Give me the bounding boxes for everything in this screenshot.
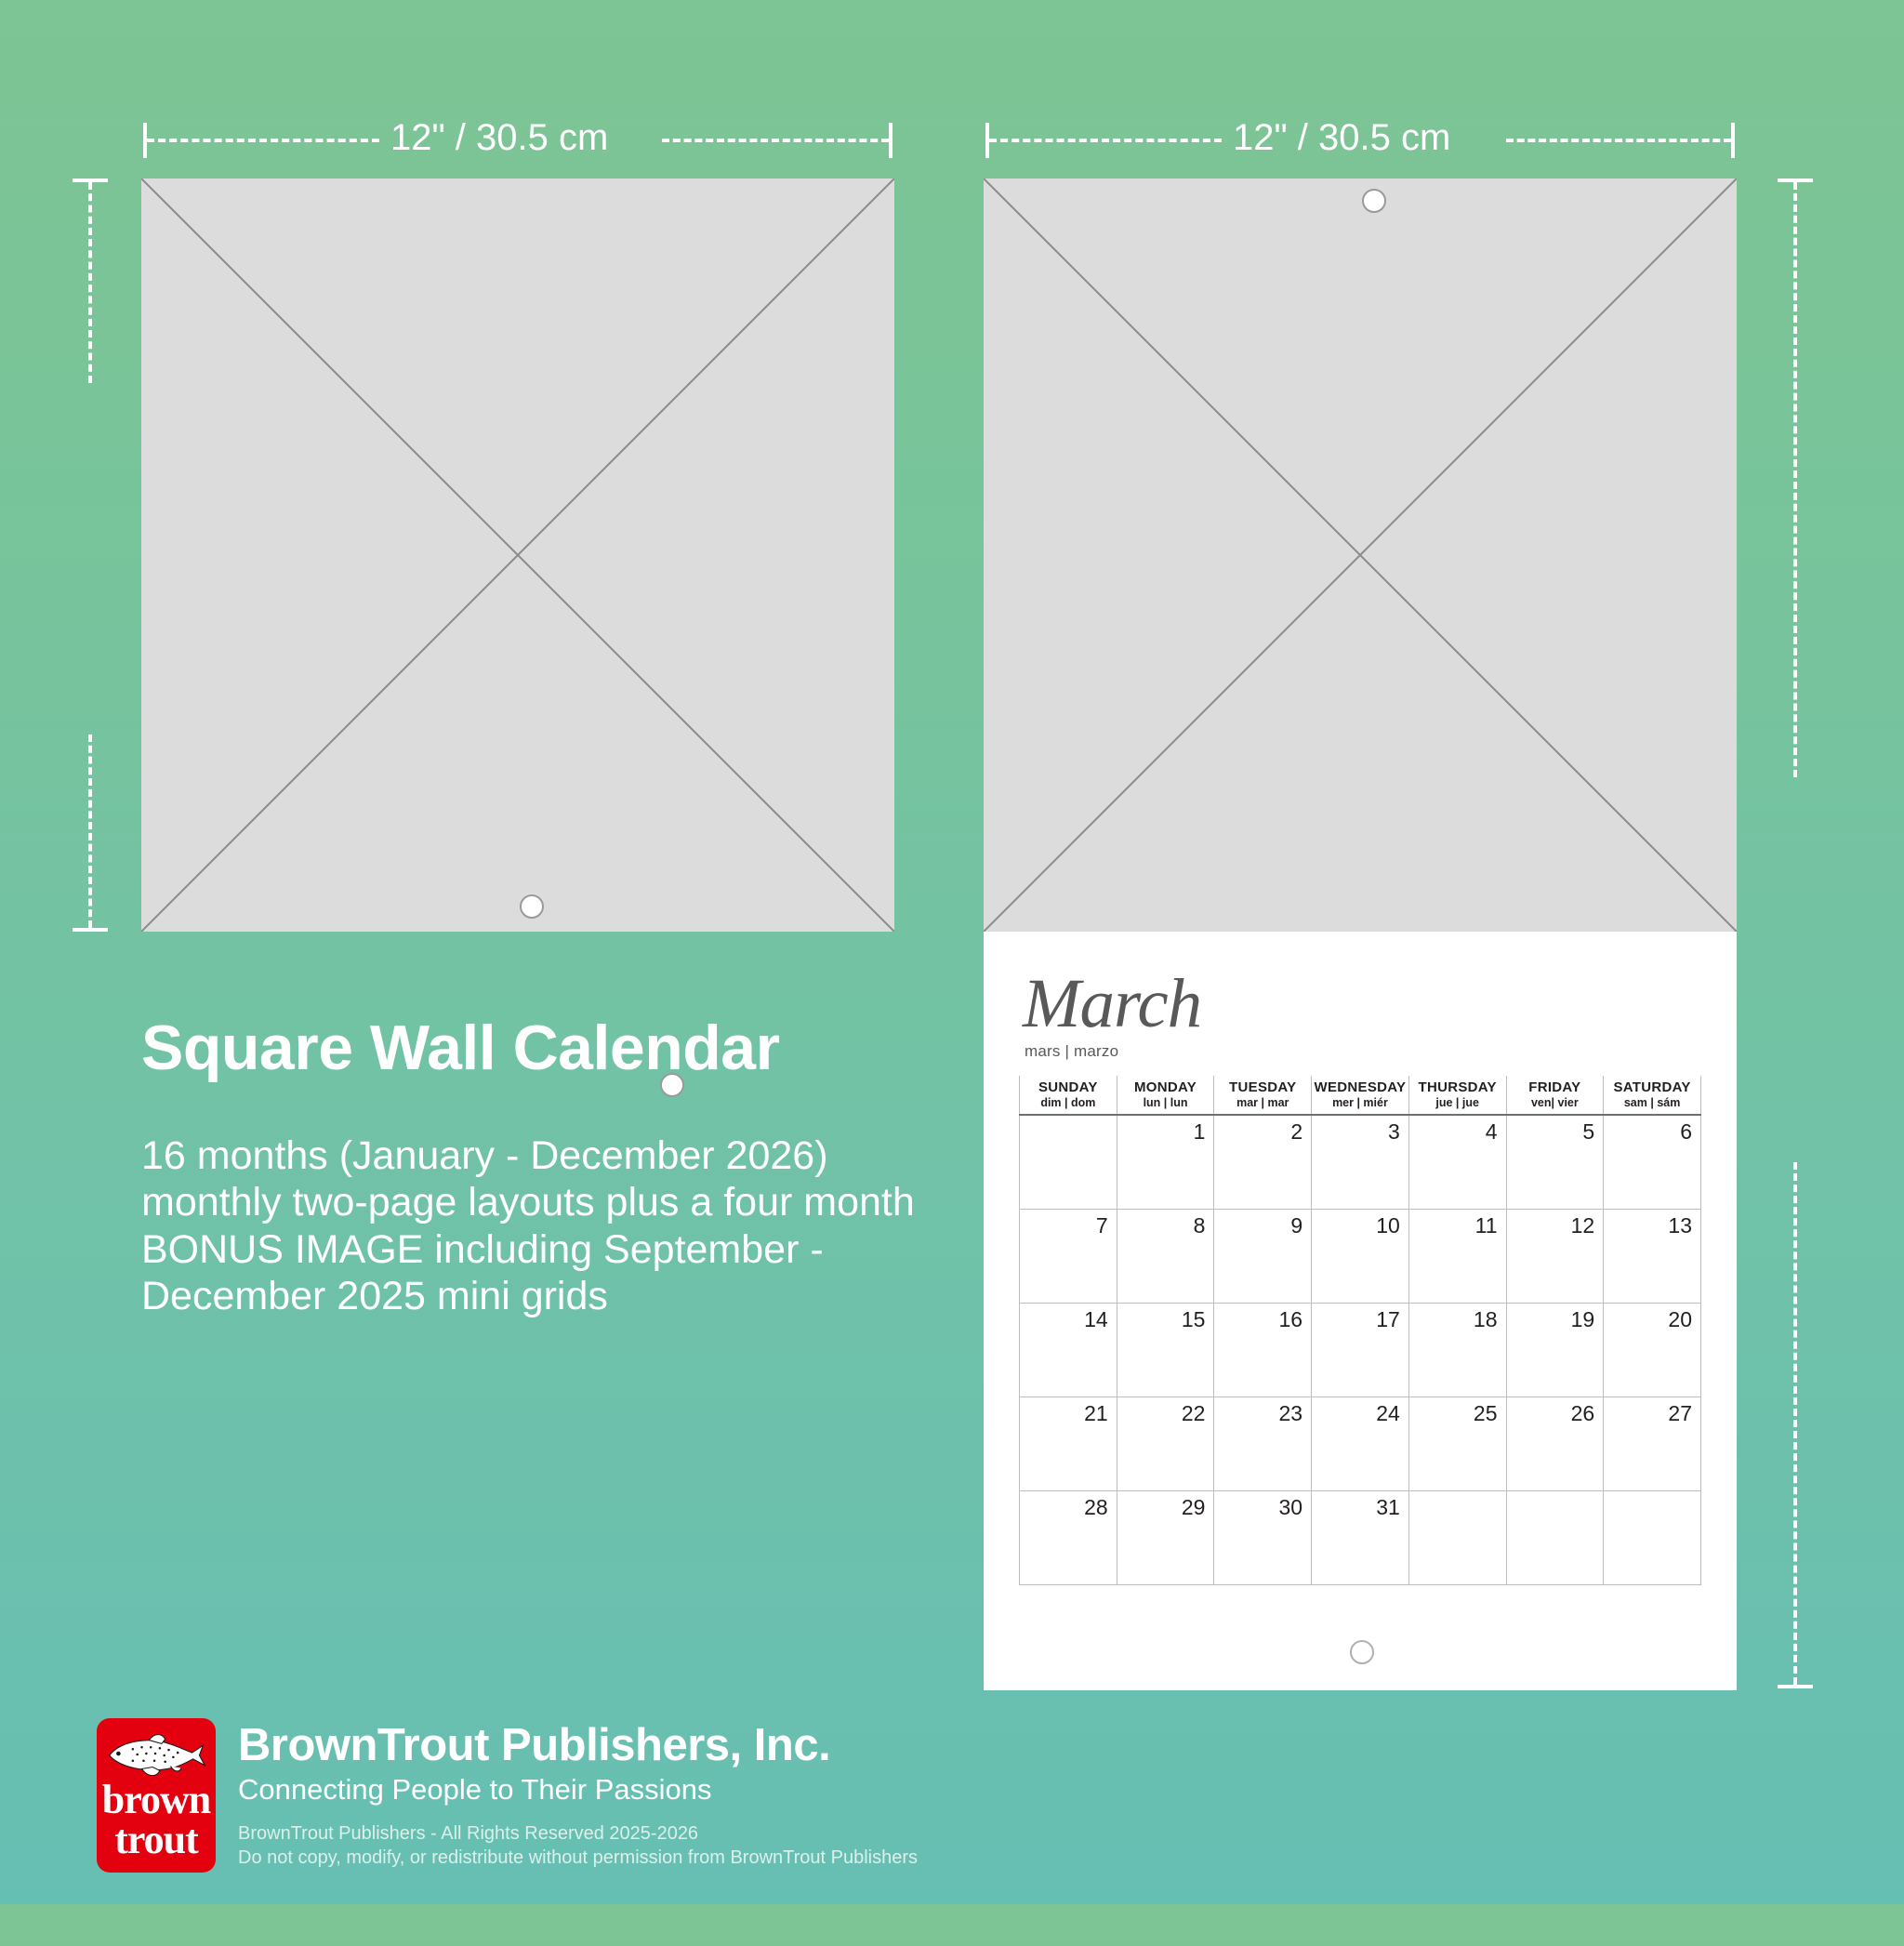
calendar-day-cell[interactable]: 17 [1312, 1303, 1409, 1397]
calendar-day-cell[interactable]: 27 [1604, 1397, 1701, 1490]
day-header-translations: jue | jue [1409, 1096, 1506, 1109]
calendar-day-cell[interactable] [1408, 1490, 1506, 1584]
calendar-day-cell[interactable]: 20 [1604, 1303, 1701, 1397]
product-description: 16 months (January - December 2026) mont… [141, 1132, 959, 1319]
calendar-cover-placeholder [141, 179, 894, 932]
calendar-day-cell[interactable] [1020, 1115, 1117, 1209]
calendar-day-cell[interactable]: 13 [1604, 1209, 1701, 1303]
day-header-translations: dim | dom [1020, 1096, 1117, 1109]
calendar-day-cell[interactable]: 19 [1506, 1303, 1604, 1397]
logo-wordmark: brown trout [97, 1780, 216, 1860]
calendar-day-cell[interactable] [1604, 1490, 1701, 1584]
day-header-label: WEDNESDAY [1312, 1079, 1408, 1095]
trout-fish-icon [102, 1726, 210, 1783]
calendar-day-cell[interactable] [1506, 1490, 1604, 1584]
dimension-right-vertical: 24" / 61 cm [0, 42, 1904, 84]
dimension-tick-rv-bottom [1778, 1685, 1813, 1688]
calendar-day-cell[interactable]: 10 [1312, 1209, 1409, 1303]
calendar-week-row: 1 2 3 4 5 6 [1020, 1115, 1701, 1209]
calendar-day-cell[interactable]: 11 [1408, 1209, 1506, 1303]
calendar-day-cell[interactable]: 6 [1604, 1115, 1701, 1209]
calendar-day-cell[interactable]: 18 [1408, 1303, 1506, 1397]
copyright-line-1: BrownTrout Publishers - All Rights Reser… [238, 1821, 918, 1846]
calendar-week-row: 21 22 23 24 25 26 27 [1020, 1397, 1701, 1490]
calendar-day-cell[interactable]: 26 [1506, 1397, 1604, 1490]
day-header-translations: ven| vier [1507, 1096, 1604, 1109]
dimension-left-vertical: 12" / 30.5 cm [0, 0, 1904, 42]
calendar-content: March mars | marzo SUNDAY dim | dom MOND… [1019, 971, 1701, 1585]
calendar-table: SUNDAY dim | dom MONDAY lun | lun TUESDA… [1019, 1076, 1701, 1585]
hole-punch-left-bottom [520, 894, 544, 919]
dimension-dash-left-a [147, 139, 379, 142]
day-header-label: TUESDAY [1214, 1079, 1311, 1095]
calendar-day-cell[interactable]: 30 [1214, 1490, 1312, 1584]
day-header-saturday: SATURDAY sam | sám [1604, 1076, 1701, 1115]
month-title-translations: mars | marzo [1025, 1042, 1701, 1061]
calendar-day-cell[interactable]: 9 [1214, 1209, 1312, 1303]
calendar-day-cell[interactable]: 1 [1117, 1115, 1214, 1209]
logo-word-brown: brown [97, 1780, 216, 1820]
day-header-wednesday: WEDNESDAY mer | miér [1312, 1076, 1409, 1115]
day-header-thursday: THURSDAY jue | jue [1408, 1076, 1506, 1115]
dimension-dash-right-b [1506, 139, 1731, 142]
dimension-label-top-right: 12" / 30.5 cm [1233, 117, 1450, 159]
browntrout-logo: brown trout [97, 1718, 216, 1873]
calendar-day-cell[interactable]: 2 [1214, 1115, 1312, 1209]
day-header-sunday: SUNDAY dim | dom [1020, 1076, 1117, 1115]
page-title: Square Wall Calendar [141, 1012, 780, 1084]
dimension-dash-lv-a [88, 182, 92, 383]
calendar-week-row: 7 8 9 10 11 12 13 [1020, 1209, 1701, 1303]
hole-punch-calendar-bottom [1350, 1640, 1374, 1664]
company-tagline: Connecting People to Their Passions [238, 1773, 918, 1807]
calendar-day-cell[interactable]: 23 [1214, 1397, 1312, 1490]
calendar-day-cell[interactable]: 14 [1020, 1303, 1117, 1397]
dimension-dash-right-a [989, 139, 1222, 142]
placeholder-cross-icon [984, 179, 1737, 932]
placeholder-cross-icon [141, 179, 894, 932]
dimension-tick-lv-bottom [73, 928, 108, 932]
calendar-week-row: 28 29 30 31 [1020, 1490, 1701, 1584]
dimension-dash-rv-a [1793, 182, 1797, 777]
calendar-day-cell[interactable]: 7 [1020, 1209, 1117, 1303]
calendar-week-row: 14 15 16 17 18 19 20 [1020, 1303, 1701, 1397]
calendar-day-cell[interactable]: 22 [1117, 1397, 1214, 1490]
company-name: BrownTrout Publishers, Inc. [238, 1722, 918, 1769]
calendar-day-cell[interactable]: 24 [1312, 1397, 1409, 1490]
calendar-day-cell[interactable]: 5 [1506, 1115, 1604, 1209]
footer-text-block: BrownTrout Publishers, Inc. Connecting P… [238, 1722, 918, 1870]
copyright-notice: BrownTrout Publishers - All Rights Reser… [238, 1821, 918, 1870]
calendar-day-cell[interactable]: 4 [1408, 1115, 1506, 1209]
hole-punch-right-top [1362, 189, 1386, 213]
day-header-friday: FRIDAY ven| vier [1506, 1076, 1604, 1115]
dimension-dash-left-b [662, 139, 889, 142]
day-header-tuesday: TUESDAY mar | mar [1214, 1076, 1312, 1115]
day-header-label: THURSDAY [1409, 1079, 1506, 1095]
dimension-label-top-left: 12" / 30.5 cm [390, 117, 608, 159]
calendar-day-cell[interactable]: 29 [1117, 1490, 1214, 1584]
dimension-dash-lv-b [88, 735, 92, 928]
calendar-day-cell[interactable]: 15 [1117, 1303, 1214, 1397]
day-header-label: MONDAY [1117, 1079, 1214, 1095]
day-header-translations: sam | sám [1604, 1096, 1700, 1109]
day-header-label: SUNDAY [1020, 1079, 1117, 1095]
day-header-translations: mar | mar [1214, 1096, 1311, 1109]
day-header-translations: mer | miér [1312, 1096, 1408, 1109]
calendar-grid-page: March mars | marzo SUNDAY dim | dom MOND… [984, 932, 1737, 1690]
calendar-day-cell[interactable]: 16 [1214, 1303, 1312, 1397]
calendar-day-cell[interactable]: 31 [1312, 1490, 1409, 1584]
calendar-day-cell[interactable]: 25 [1408, 1397, 1506, 1490]
dimension-dash-rv-b [1793, 1162, 1797, 1685]
day-header-monday: MONDAY lun | lun [1117, 1076, 1214, 1115]
dimension-tick-right-end [1731, 123, 1735, 158]
calendar-image-page-placeholder [984, 179, 1737, 932]
calendar-day-cell[interactable]: 12 [1506, 1209, 1604, 1303]
dimension-tick-left-end [889, 123, 892, 158]
calendar-day-cell[interactable]: 28 [1020, 1490, 1117, 1584]
calendar-day-cell[interactable]: 3 [1312, 1115, 1409, 1209]
copyright-line-2: Do not copy, modify, or redistribute wit… [238, 1846, 918, 1870]
day-header-label: FRIDAY [1507, 1079, 1604, 1095]
day-header-translations: lun | lun [1117, 1096, 1214, 1109]
calendar-day-cell[interactable]: 21 [1020, 1397, 1117, 1490]
day-header-label: SATURDAY [1604, 1079, 1700, 1095]
month-title: March [1023, 971, 1701, 1037]
calendar-day-cell[interactable]: 8 [1117, 1209, 1214, 1303]
calendar-header-row: SUNDAY dim | dom MONDAY lun | lun TUESDA… [1020, 1076, 1701, 1115]
logo-word-trout: trout [97, 1820, 216, 1860]
